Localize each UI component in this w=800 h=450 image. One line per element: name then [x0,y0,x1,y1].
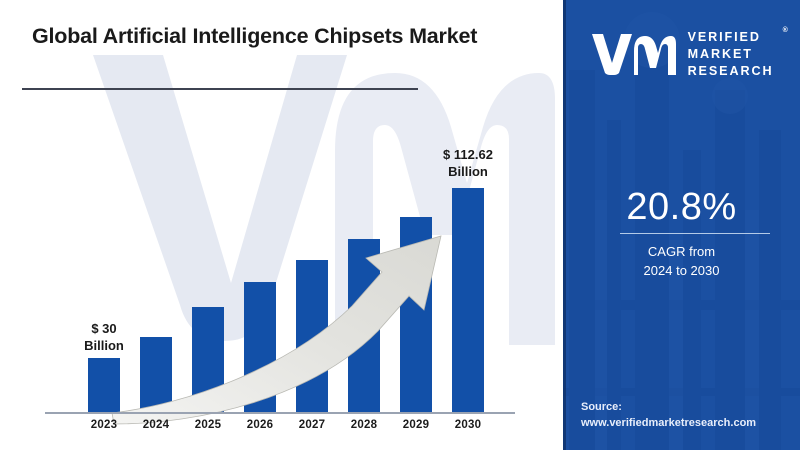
brand-line-research: RESEARCH [688,63,774,80]
bar-2029 [400,217,432,412]
bar-2025 [192,307,224,412]
source-attribution: Source: www.verifiedmarketresearch.com [581,400,796,432]
first-value-label: $ 30 Billion [62,320,146,354]
x-tick-2026: 2026 [234,419,286,431]
first-value-amount: $ 30 [62,320,146,337]
source-url[interactable]: www.verifiedmarketresearch.com [581,416,796,432]
x-tick-2027: 2027 [286,419,338,431]
last-value-unit: Billion [414,163,522,180]
x-tick-2030: 2030 [442,419,494,431]
cagr-caption: CAGR from 2024 to 2030 [563,243,800,281]
cagr-value: 20.8% [563,186,800,229]
branding-panel: VERIFIED MARKET RESEARCH ® 20.8% CAGR fr… [563,0,800,450]
source-label: Source: [581,400,796,416]
registered-trademark-icon: ® [783,26,788,35]
bar-2023 [88,358,120,412]
last-value-label: $ 112.62 Billion [414,146,522,180]
cagr-caption-line2: 2024 to 2030 [563,262,800,281]
chart-panel: Global Artificial Intelligence Chipsets … [0,0,563,450]
x-tick-2025: 2025 [182,419,234,431]
bar-2026 [244,282,276,412]
bar-chart: 2023 2024 2025 2026 2027 2028 2029 2030 … [0,0,563,450]
x-tick-2028: 2028 [338,419,390,431]
bar-2027 [296,260,328,412]
brand-name: VERIFIED MARKET RESEARCH ® [688,29,774,80]
x-tick-2024: 2024 [130,419,182,431]
vmr-monogram-icon [590,32,676,76]
x-tick-2023: 2023 [78,419,130,431]
last-value-amount: $ 112.62 [414,146,522,163]
bar-2028 [348,239,380,412]
bar-2030 [452,188,484,412]
brand-line-market: MARKET [688,46,774,63]
first-value-unit: Billion [62,337,146,354]
brand-logo: VERIFIED MARKET RESEARCH ® [563,18,800,90]
x-axis-line [45,412,515,414]
market-infographic: Global Artificial Intelligence Chipsets … [0,0,800,450]
brand-line-verified: VERIFIED [688,29,774,46]
cagr-divider [620,233,770,234]
cagr-caption-line1: CAGR from [563,243,800,262]
x-tick-2029: 2029 [390,419,442,431]
